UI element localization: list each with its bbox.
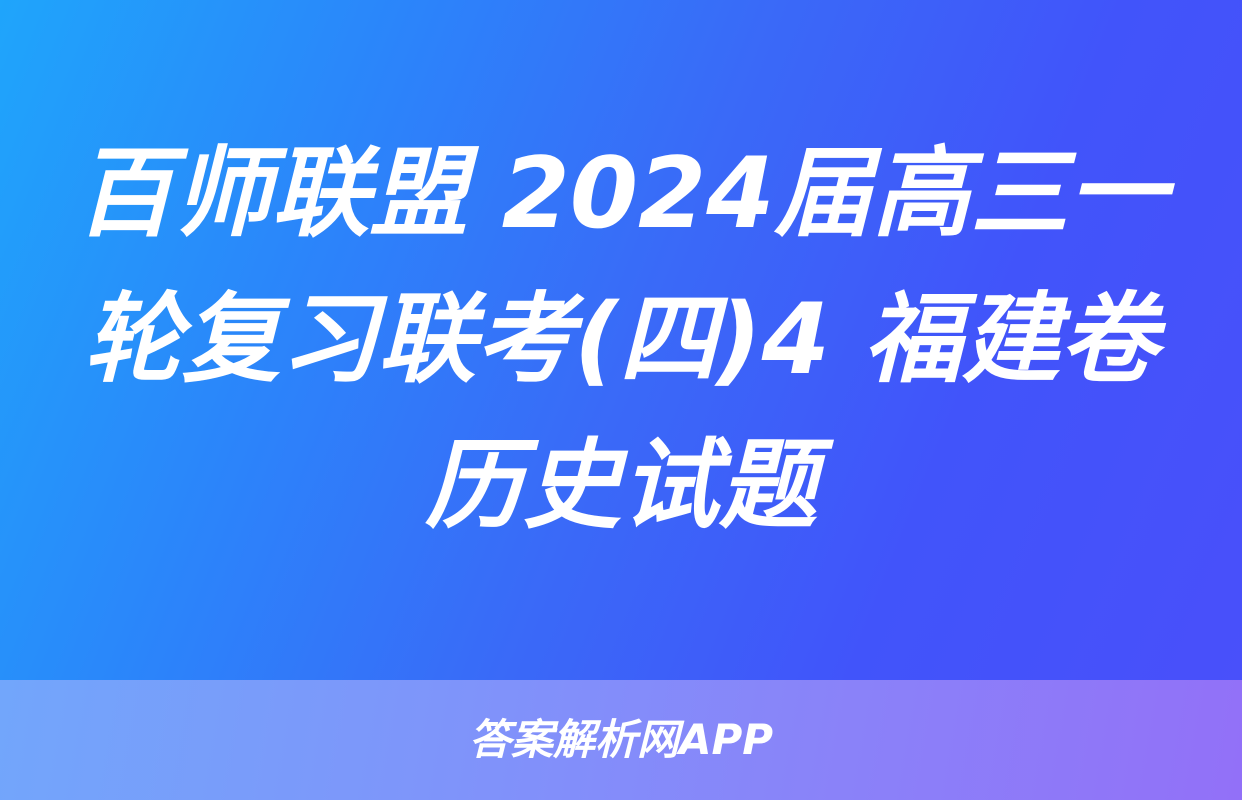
page-title: 百师联盟 2024届高三一轮复习联考(四)4 福建卷历史试题 [60,121,1182,559]
headline-area: 百师联盟 2024届高三一轮复习联考(四)4 福建卷历史试题 [0,0,1242,680]
footer-watermark-band: 答案解析网APP [0,680,1242,800]
watermark-brand-label: 答案解析网APP [469,719,773,761]
poster-canvas: 百师联盟 2024届高三一轮复习联考(四)4 福建卷历史试题 答案解析网APP [0,0,1242,800]
